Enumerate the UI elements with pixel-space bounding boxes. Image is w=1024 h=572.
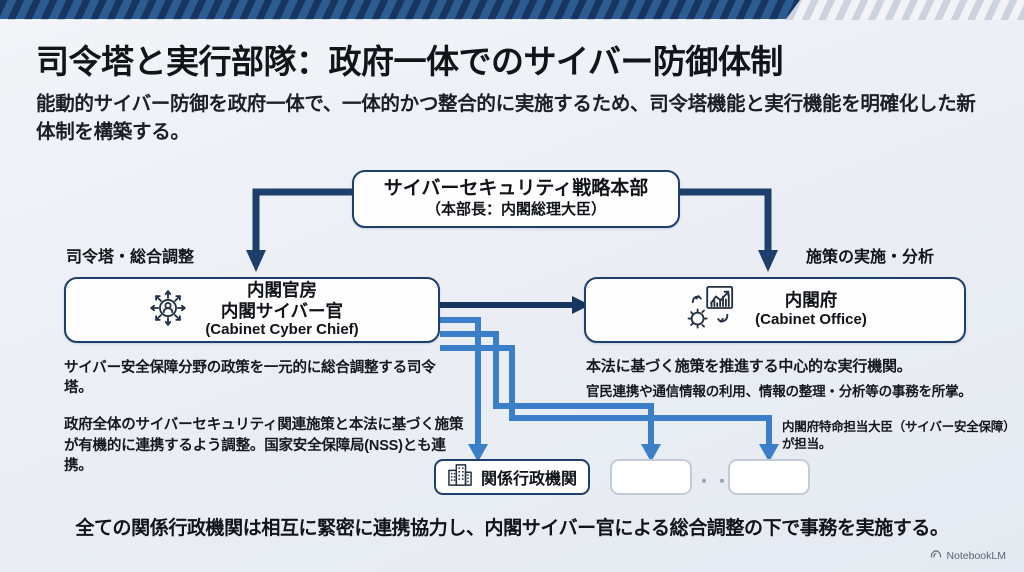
- related-agencies-box[interactable]: 関係行政機関: [434, 459, 590, 495]
- strategy-headquarters-box[interactable]: サイバーセキュリティ戦略本部 （本部長：内閣総理大臣）: [352, 170, 680, 228]
- agency-placeholder-2[interactable]: [728, 459, 810, 495]
- left-description-1: サイバー安全保障分野の政策を一元的に総合調整する司令塔。: [64, 358, 464, 398]
- decorative-stripe-band: [0, 0, 1024, 20]
- agency-placeholder-1[interactable]: [610, 459, 692, 495]
- notebooklm-watermark: NotebookLM: [930, 548, 1006, 563]
- cabinet-office-box[interactable]: 内閣府 (Cabinet Office): [584, 277, 966, 343]
- right-column-caption: 施策の実施・分析: [806, 243, 934, 267]
- left-column-caption: 司令塔・総合調整: [66, 243, 194, 267]
- slide-canvas: 司令塔と実行部隊：政府一体でのサイバー防御体制 能動的サイバー防御を政府一体で、…: [0, 0, 1024, 572]
- strategy-hq-chief: （本部長：内閣総理大臣）: [426, 200, 606, 220]
- cabinet-cyber-chief-english: (Cabinet Cyber Chief): [205, 321, 358, 340]
- footer-caption: 全ての関係行政機関は相互に緊密に連携協力し、内閣サイバー官による総合調整の下で事…: [0, 513, 1024, 540]
- minister-note: 内閣府特命担当大臣（サイバー安全保障）が担当。: [782, 419, 1012, 452]
- cabinet-office-line1: 内閣府: [755, 290, 867, 310]
- gear-chart-icon: [683, 284, 741, 337]
- notebooklm-label: NotebookLM: [946, 550, 1006, 562]
- person-network-icon: [145, 285, 191, 336]
- right-description-2: 官民連携や通信情報の利用、情報の整理・分析等の事務を所掌。: [586, 383, 986, 401]
- notebooklm-icon: [930, 548, 942, 563]
- related-agencies-label: 関係行政機関: [481, 465, 577, 489]
- cabinet-cyber-chief-box[interactable]: 内閣官房 内閣サイバー官 (Cabinet Cyber Chief): [64, 277, 440, 343]
- strategy-hq-name: サイバーセキュリティ戦略本部: [384, 178, 648, 200]
- page-subtitle: 能動的サイバー防御を政府一体で、一体的かつ整合的に実施するため、司令塔機能と実行…: [36, 90, 986, 147]
- cabinet-office-english: (Cabinet Office): [755, 311, 867, 330]
- cabinet-secretariat-line1: 内閣官房: [205, 280, 358, 300]
- building-icon: [447, 463, 473, 492]
- right-description-1: 本法に基づく施策を推進する中心的な実行機関。: [586, 357, 986, 377]
- stripe-band-dark: [0, 0, 800, 19]
- page-title: 司令塔と実行部隊：政府一体でのサイバー防御体制: [36, 35, 783, 83]
- cabinet-cyber-chief-line2: 内閣サイバー官: [205, 301, 358, 321]
- left-description-2: 政府全体のサイバーセキュリティ関連施策と本法に基づく施策が有機的に連携するよう調…: [64, 415, 474, 477]
